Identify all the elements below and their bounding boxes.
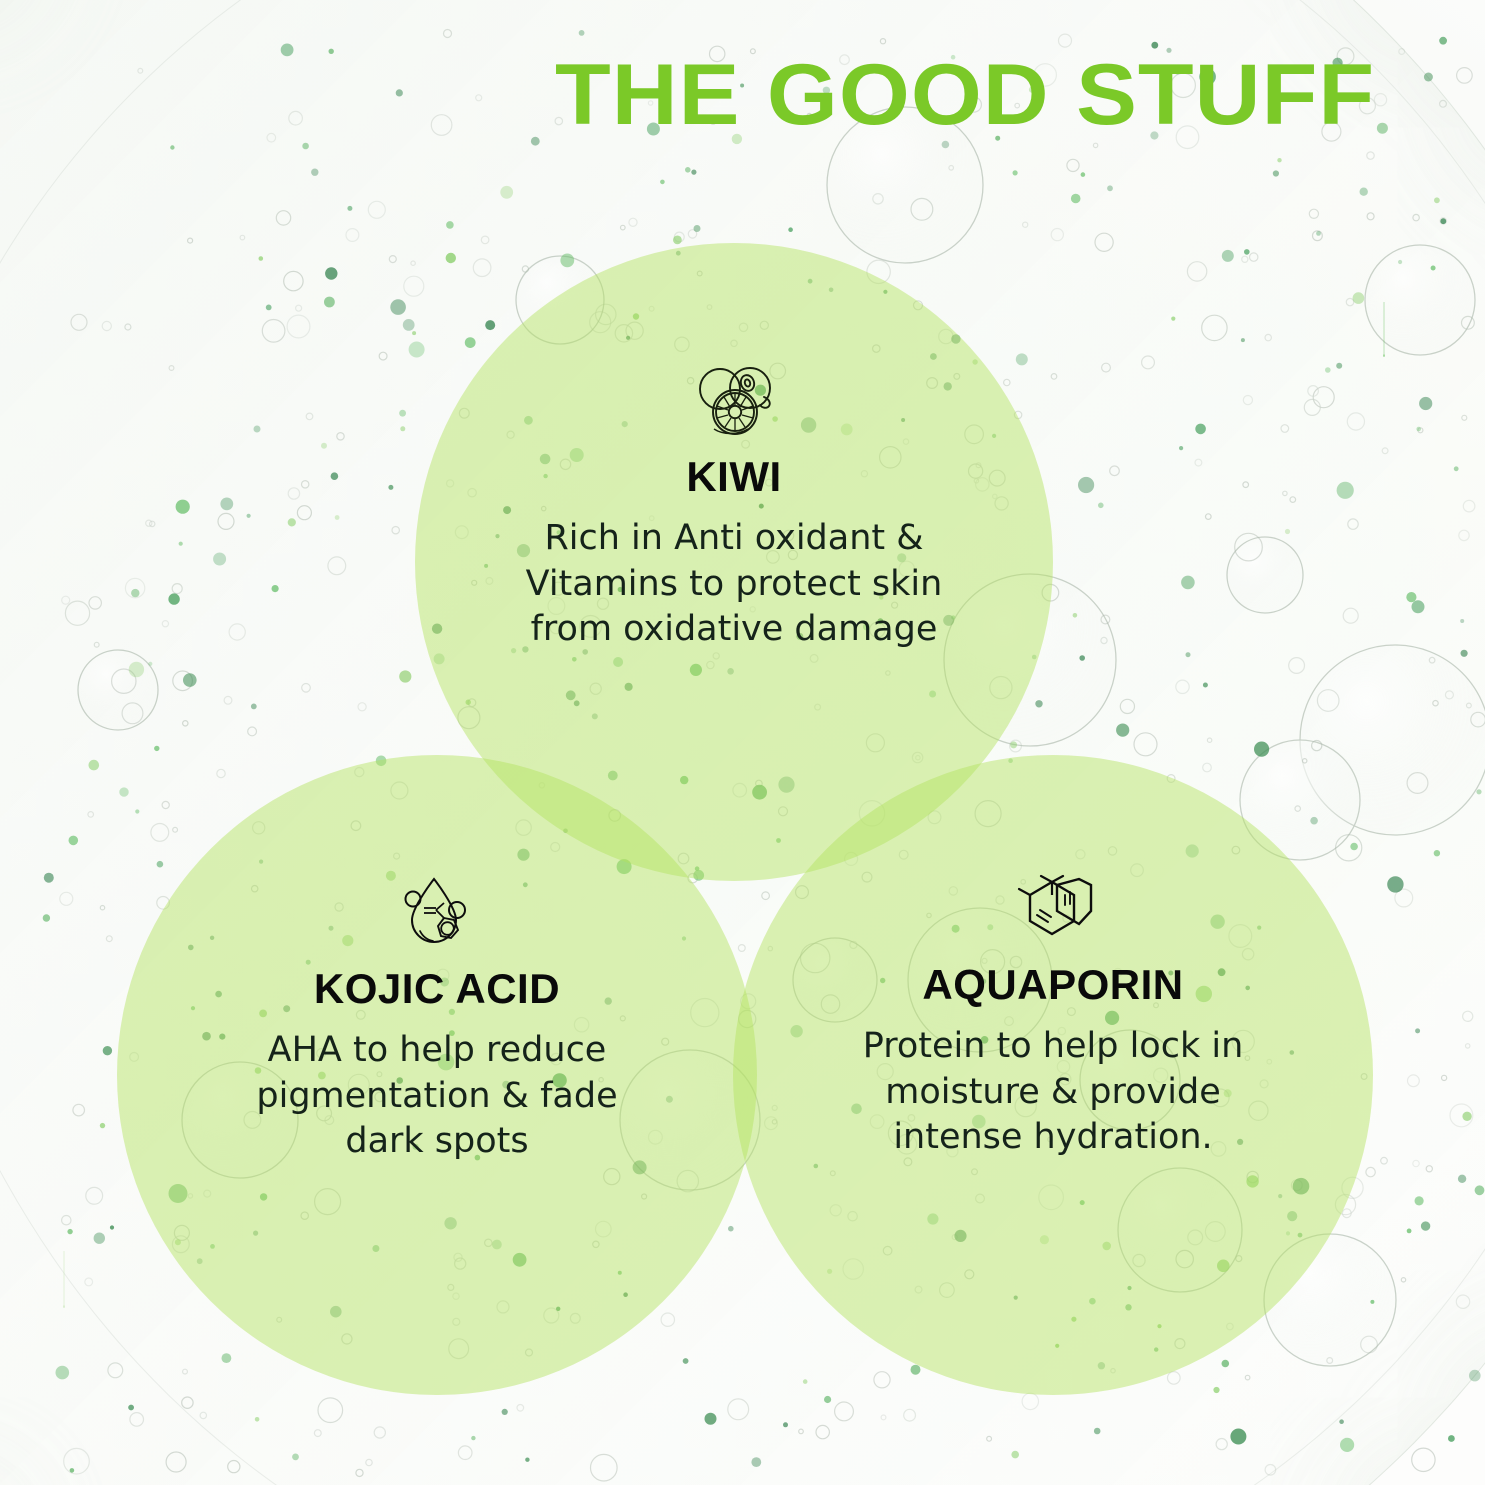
ingredient-circle-aquaporin: AQUAPORIN Protein to help lock in moistu… (733, 755, 1373, 1395)
page-title: THE GOOD STUFF (555, 52, 1485, 138)
ingredient-title-kiwi: KIWI (686, 456, 781, 498)
ingredient-card-kiwi: KIWI Rich in Anti oxidant & Vitamins to … (415, 361, 1053, 653)
down-arrow-line-right (1383, 190, 1385, 470)
infographic-canvas: KIWI Rich in Anti oxidant & Vitamins to … (0, 0, 1485, 1485)
ingredient-description-kojic-acid: AHA to help reduce pigmentation & fade d… (222, 1028, 652, 1165)
down-arrow-line-left (63, 1135, 65, 1425)
ingredient-title-aquaporin: AQUAPORIN (922, 964, 1183, 1006)
droplet-molecule-icon (400, 873, 474, 956)
ingredient-title-kojic-acid: KOJIC ACID (314, 968, 560, 1010)
ingredient-circle-kojic-acid: KOJIC ACID AHA to help reduce pigmentati… (117, 755, 757, 1395)
ingredient-description-aquaporin: Protein to help lock in moisture & provi… (838, 1024, 1268, 1161)
ingredient-card-aquaporin: AQUAPORIN Protein to help lock in moistu… (733, 873, 1373, 1161)
ingredient-card-kojic-acid: KOJIC ACID AHA to help reduce pigmentati… (117, 873, 757, 1165)
kiwi-fruit-icon (690, 361, 778, 444)
molecule-rings-icon (1010, 873, 1096, 952)
ingredient-description-kiwi: Rich in Anti oxidant & Vitamins to prote… (519, 516, 949, 653)
